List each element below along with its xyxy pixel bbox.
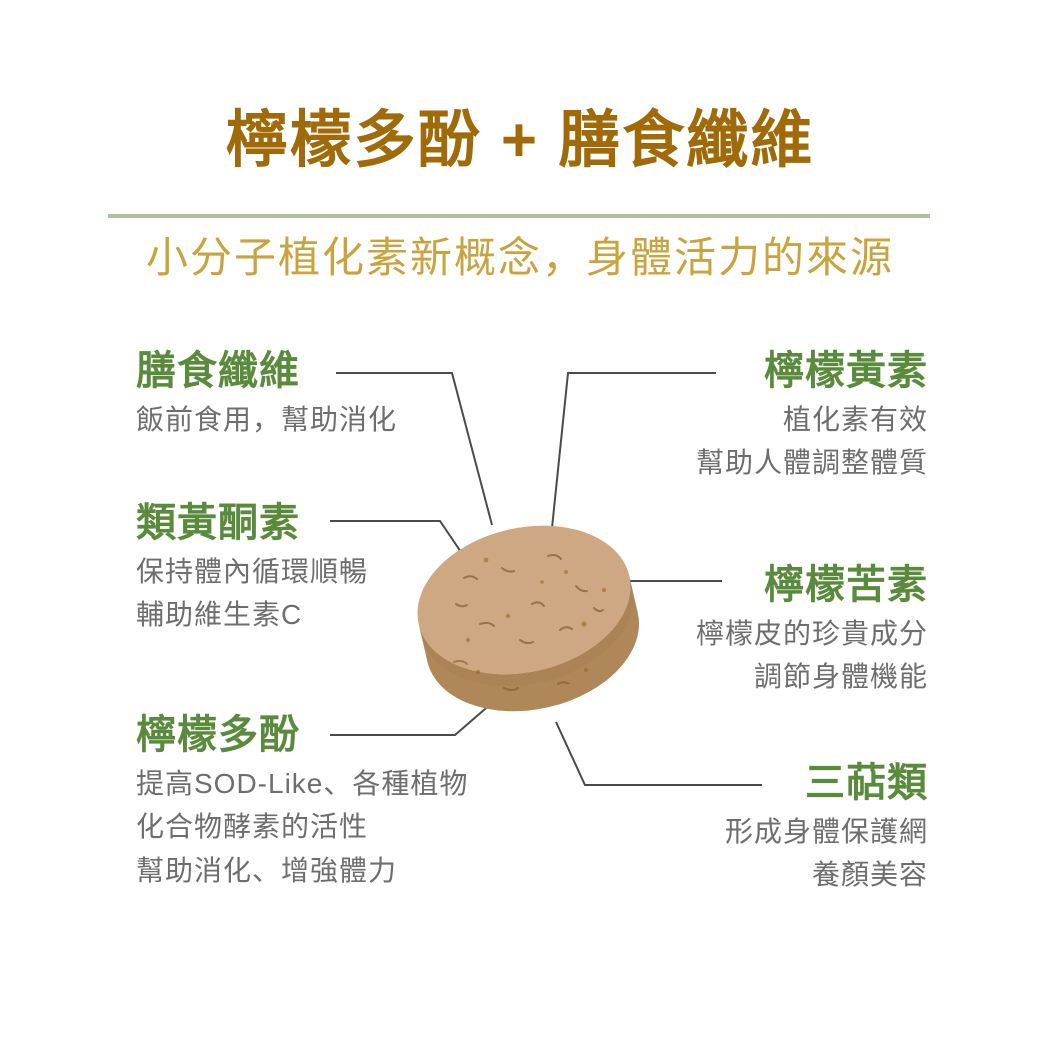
callout-flavonoid-line-2: 輔助維生素C bbox=[136, 593, 368, 636]
callout-triterpene-line-1: 形成身體保護網 bbox=[725, 810, 928, 853]
callout-polyphenol-line-3: 幫助消化、增強體力 bbox=[136, 849, 468, 892]
callout-fiber-title: 膳食纖維 bbox=[136, 348, 397, 394]
callout-flavone-line-2: 幫助人體調整體質 bbox=[696, 441, 928, 484]
callout-polyphenol: 檸檬多酚 提高SOD-Like、各種植物 化合物酵素的活性 幫助消化、增強體力 bbox=[136, 712, 468, 892]
callout-triterpene: 三萜類 形成身體保護網 養顏美容 bbox=[725, 760, 928, 897]
callout-fiber: 膳食纖維 飯前食用，幫助消化 bbox=[136, 348, 397, 441]
callout-limonin-line-1: 檸檬皮的珍貴成分 bbox=[696, 612, 928, 655]
page-subtitle: 小分子植化素新概念，身體活力的來源 bbox=[0, 232, 1040, 285]
callout-flavonoid: 類黃酮素 保持體內循環順暢 輔助維生素C bbox=[136, 500, 368, 637]
callout-triterpene-title: 三萜類 bbox=[725, 760, 928, 806]
callout-limonin-line-2: 調節身體機能 bbox=[696, 655, 928, 698]
callout-flavone-line-1: 植化素有效 bbox=[696, 398, 928, 441]
callout-fiber-line-1: 飯前食用，幫助消化 bbox=[136, 398, 397, 441]
page-title: 檸檬多酚 + 膳食纖維 bbox=[0, 108, 1040, 175]
callout-polyphenol-line-2: 化合物酵素的活性 bbox=[136, 805, 468, 848]
connector-flavone bbox=[552, 373, 716, 528]
header-divider bbox=[108, 214, 930, 218]
callout-limonin: 檸檬苦素 檸檬皮的珍貴成分 調節身體機能 bbox=[696, 562, 928, 699]
callout-flavone: 檸檬黃素 植化素有效 幫助人體調整體質 bbox=[696, 348, 928, 485]
infographic-canvas: 檸檬多酚 + 膳食纖維 小分子植化素新概念，身體活力的來源 bbox=[0, 0, 1040, 1041]
callout-limonin-title: 檸檬苦素 bbox=[696, 562, 928, 608]
callout-polyphenol-line-1: 提高SOD-Like、各種植物 bbox=[136, 762, 468, 805]
callout-flavone-title: 檸檬黃素 bbox=[696, 348, 928, 394]
tablet-illustration bbox=[408, 512, 640, 724]
callout-polyphenol-title: 檸檬多酚 bbox=[136, 712, 468, 758]
callout-flavonoid-title: 類黃酮素 bbox=[136, 500, 368, 546]
callout-flavonoid-line-1: 保持體內循環順暢 bbox=[136, 550, 368, 593]
callout-triterpene-line-2: 養顏美容 bbox=[725, 853, 928, 896]
